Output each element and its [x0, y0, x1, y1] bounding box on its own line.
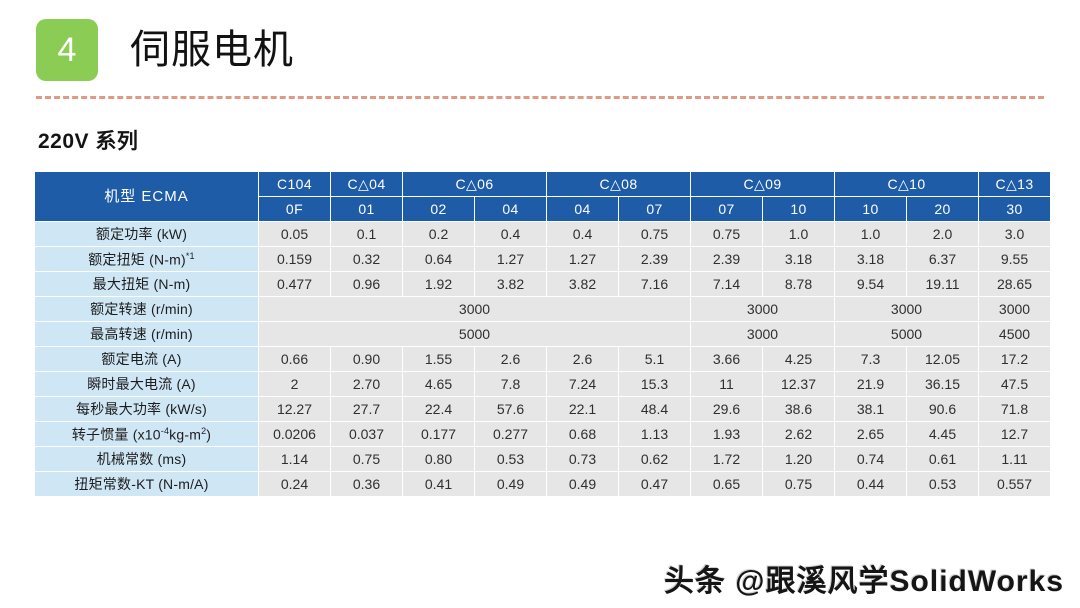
table-row: 额定扭矩 (N-m)*10.1590.320.641.271.272.392.3…: [35, 247, 1051, 272]
row-label: 机械常数 (ms): [35, 447, 259, 472]
cell-value-merged: 4500: [979, 322, 1051, 347]
row-label: 最大扭矩 (N-m): [35, 272, 259, 297]
cell-value: 12.7: [979, 422, 1051, 447]
cell-value: 57.6: [475, 397, 547, 422]
cell-value: 0.4: [547, 222, 619, 247]
cell-value: 2: [259, 372, 331, 397]
cell-value: 17.2: [979, 347, 1051, 372]
cell-value: 22.4: [403, 397, 475, 422]
cell-value: 1.0: [763, 222, 835, 247]
row-label: 扭矩常数-KT (N-m/A): [35, 472, 259, 497]
series-header-c08: C△08: [547, 172, 691, 197]
table-row: 机械常数 (ms)1.140.750.800.530.730.621.721.2…: [35, 447, 1051, 472]
row-label: 瞬时最大电流 (A): [35, 372, 259, 397]
cell-value: 90.6: [907, 397, 979, 422]
cell-value: 0.61: [907, 447, 979, 472]
model-header-0f: 0F: [259, 197, 331, 222]
cell-value: 2.70: [331, 372, 403, 397]
cell-value: 1.27: [547, 247, 619, 272]
cell-value: 7.8: [475, 372, 547, 397]
cell-value: 0.64: [403, 247, 475, 272]
cell-value: 2.62: [763, 422, 835, 447]
cell-value: 12.27: [259, 397, 331, 422]
cell-value: 1.20: [763, 447, 835, 472]
cell-value: 0.75: [691, 222, 763, 247]
cell-value: 7.14: [691, 272, 763, 297]
cell-value: 0.277: [475, 422, 547, 447]
cell-value: 0.66: [259, 347, 331, 372]
cell-value: 9.54: [835, 272, 907, 297]
table-body: 额定功率 (kW)0.050.10.20.40.40.750.751.01.02…: [35, 222, 1051, 497]
cell-value: 0.75: [331, 447, 403, 472]
cell-value-merged: 5000: [259, 322, 691, 347]
cell-value: 3.18: [835, 247, 907, 272]
cell-value: 0.0206: [259, 422, 331, 447]
cell-value: 0.90: [331, 347, 403, 372]
cell-value: 3.82: [547, 272, 619, 297]
series-header-c04: C△04: [331, 172, 403, 197]
cell-value: 4.65: [403, 372, 475, 397]
series-header-c09: C△09: [691, 172, 835, 197]
cell-value: 0.62: [619, 447, 691, 472]
cell-value: 27.7: [331, 397, 403, 422]
cell-value: 0.2: [403, 222, 475, 247]
cell-value: 9.55: [979, 247, 1051, 272]
cell-value: 38.6: [763, 397, 835, 422]
cell-value-merged: 3000: [835, 297, 979, 322]
cell-value: 0.36: [331, 472, 403, 497]
table-row: 额定功率 (kW)0.050.10.20.40.40.750.751.01.02…: [35, 222, 1051, 247]
cell-value: 4.25: [763, 347, 835, 372]
page-title: 伺服电机: [130, 30, 294, 70]
model-header-20: 20: [907, 197, 979, 222]
cell-value: 7.24: [547, 372, 619, 397]
cell-value: 38.1: [835, 397, 907, 422]
cell-value: 6.37: [907, 247, 979, 272]
cell-value: 0.68: [547, 422, 619, 447]
cell-value: 7.16: [619, 272, 691, 297]
row-label: 额定功率 (kW): [35, 222, 259, 247]
cell-value: 28.65: [979, 272, 1051, 297]
cell-value: 1.13: [619, 422, 691, 447]
row-label: 最高转速 (r/min): [35, 322, 259, 347]
cell-value: 2.39: [691, 247, 763, 272]
cell-value: 12.05: [907, 347, 979, 372]
model-header-07b: 07: [691, 197, 763, 222]
model-header-04a: 04: [475, 197, 547, 222]
table-row: 扭矩常数-KT (N-m/A)0.240.360.410.490.490.470…: [35, 472, 1051, 497]
cell-value: 1.92: [403, 272, 475, 297]
cell-value: 0.49: [475, 472, 547, 497]
table-row: 额定电流 (A)0.660.901.552.62.65.13.664.257.3…: [35, 347, 1051, 372]
cell-value: 0.53: [907, 472, 979, 497]
cell-value: 2.6: [547, 347, 619, 372]
model-header-02: 02: [403, 197, 475, 222]
table-row: 最大扭矩 (N-m)0.4770.961.923.823.827.167.148…: [35, 272, 1051, 297]
cell-value: 0.47: [619, 472, 691, 497]
table-row: 额定转速 (r/min)3000300030003000: [35, 297, 1051, 322]
cell-value: 2.0: [907, 222, 979, 247]
cell-value: 0.65: [691, 472, 763, 497]
series-header-c104: C104: [259, 172, 331, 197]
row-label: 额定电流 (A): [35, 347, 259, 372]
cell-value: 3.18: [763, 247, 835, 272]
cell-value: 47.5: [979, 372, 1051, 397]
cell-value: 0.557: [979, 472, 1051, 497]
cell-value: 1.72: [691, 447, 763, 472]
cell-value: 15.3: [619, 372, 691, 397]
cell-value: 2.39: [619, 247, 691, 272]
cell-value: 0.44: [835, 472, 907, 497]
cell-value: 0.75: [619, 222, 691, 247]
cell-value: 1.93: [691, 422, 763, 447]
cell-value: 0.037: [331, 422, 403, 447]
table-row: 转子惯量 (x10-4kg-m2)0.02060.0370.1770.2770.…: [35, 422, 1051, 447]
model-header-04b: 04: [547, 197, 619, 222]
cell-value: 1.11: [979, 447, 1051, 472]
cell-value: 71.8: [979, 397, 1051, 422]
cell-value: 12.37: [763, 372, 835, 397]
servo-motor-spec-table: 机型 ECMA C104 C△04 C△06 C△08 C△09 C△10 C△…: [34, 171, 1051, 497]
table-row: 每秒最大功率 (kW/s)12.2727.722.457.622.148.429…: [35, 397, 1051, 422]
model-header-30: 30: [979, 197, 1051, 222]
cell-value: 0.05: [259, 222, 331, 247]
cell-value-merged: 3000: [259, 297, 691, 322]
cell-value: 0.80: [403, 447, 475, 472]
cell-value: 1.0: [835, 222, 907, 247]
model-header-10b: 10: [835, 197, 907, 222]
cell-value: 0.4: [475, 222, 547, 247]
cell-value: 1.14: [259, 447, 331, 472]
cell-value: 0.1: [331, 222, 403, 247]
model-header-10a: 10: [763, 197, 835, 222]
cell-value: 7.3: [835, 347, 907, 372]
cell-value: 0.53: [475, 447, 547, 472]
cell-value: 2.6: [475, 347, 547, 372]
model-header-07a: 07: [619, 197, 691, 222]
cell-value: 0.24: [259, 472, 331, 497]
sub-title: 220V 系列: [38, 125, 1080, 155]
table-row: 瞬时最大电流 (A)22.704.657.87.2415.31112.3721.…: [35, 372, 1051, 397]
cell-value-merged: 3000: [691, 322, 835, 347]
cell-value: 22.1: [547, 397, 619, 422]
row-label: 额定转速 (r/min): [35, 297, 259, 322]
cell-value: 0.177: [403, 422, 475, 447]
cell-value-merged: 3000: [979, 297, 1051, 322]
cell-value: 0.32: [331, 247, 403, 272]
cell-value: 5.1: [619, 347, 691, 372]
cell-value-merged: 5000: [835, 322, 979, 347]
cell-value: 1.27: [475, 247, 547, 272]
cell-value: 36.15: [907, 372, 979, 397]
cell-value: 0.96: [331, 272, 403, 297]
cell-value-merged: 3000: [691, 297, 835, 322]
cell-value: 0.75: [763, 472, 835, 497]
table-header-series-row: 机型 ECMA C104 C△04 C△06 C△08 C△09 C△10 C△…: [35, 172, 1051, 197]
section-number-badge: 4: [36, 19, 98, 81]
row-label: 额定扭矩 (N-m)*1: [35, 247, 259, 272]
cell-value: 21.9: [835, 372, 907, 397]
cell-value: 0.41: [403, 472, 475, 497]
cell-value: 0.73: [547, 447, 619, 472]
watermark: 头条 @跟溪风学SolidWorks: [664, 556, 1064, 600]
cell-value: 3.82: [475, 272, 547, 297]
table-header: 机型 ECMA C104 C△04 C△06 C△08 C△09 C△10 C△…: [35, 172, 1051, 222]
cell-value: 48.4: [619, 397, 691, 422]
cell-value: 3.0: [979, 222, 1051, 247]
cell-value: 2.65: [835, 422, 907, 447]
spec-table-wrapper: 机型 ECMA C104 C△04 C△06 C△08 C△09 C△10 C△…: [34, 171, 1050, 497]
series-header-c06: C△06: [403, 172, 547, 197]
slide-header: 4 伺服电机: [0, 0, 1080, 72]
table-row: 最高转速 (r/min)5000300050004500: [35, 322, 1051, 347]
cell-value: 0.159: [259, 247, 331, 272]
cell-value: 11: [691, 372, 763, 397]
cell-value: 19.11: [907, 272, 979, 297]
model-header-01: 01: [331, 197, 403, 222]
row-label: 转子惯量 (x10-4kg-m2): [35, 422, 259, 447]
cell-value: 0.477: [259, 272, 331, 297]
row-label: 每秒最大功率 (kW/s): [35, 397, 259, 422]
cell-value: 0.74: [835, 447, 907, 472]
dashed-divider: [36, 96, 1044, 99]
cell-value: 29.6: [691, 397, 763, 422]
cell-value: 3.66: [691, 347, 763, 372]
series-header-c10: C△10: [835, 172, 979, 197]
series-header-c13: C△13: [979, 172, 1051, 197]
cell-value: 0.49: [547, 472, 619, 497]
table-corner-label: 机型 ECMA: [35, 172, 259, 222]
cell-value: 1.55: [403, 347, 475, 372]
cell-value: 8.78: [763, 272, 835, 297]
cell-value: 4.45: [907, 422, 979, 447]
